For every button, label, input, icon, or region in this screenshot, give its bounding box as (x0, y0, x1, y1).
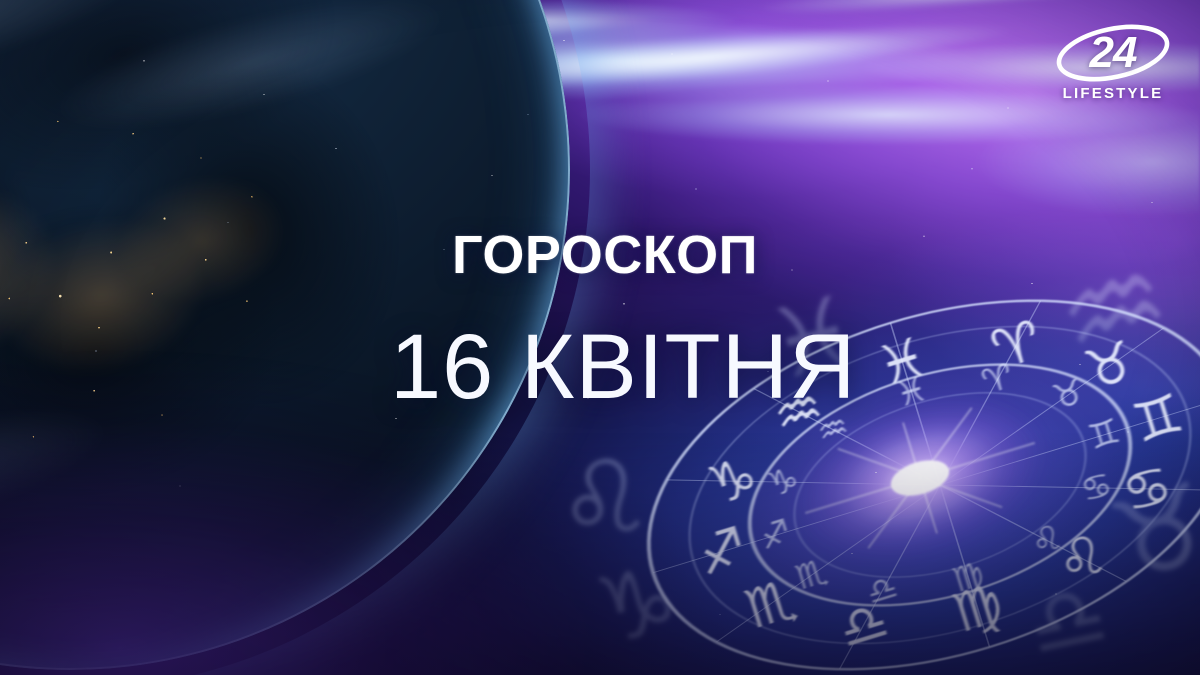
logo-number: 24 (1090, 31, 1137, 75)
logo-wordmark: LIFESTYLE (1048, 85, 1178, 102)
horoscope-banner: ♒ ♓ ♌ ♑ ♉ ♎ (0, 0, 1200, 675)
channel-24-logo[interactable]: 24 LIFESTYLE (1048, 22, 1178, 102)
banner-date: 16 КВІТНЯ (390, 315, 856, 420)
page-title: ГОРОСКОП (452, 224, 758, 286)
logo-mark: 24 (1048, 22, 1178, 84)
